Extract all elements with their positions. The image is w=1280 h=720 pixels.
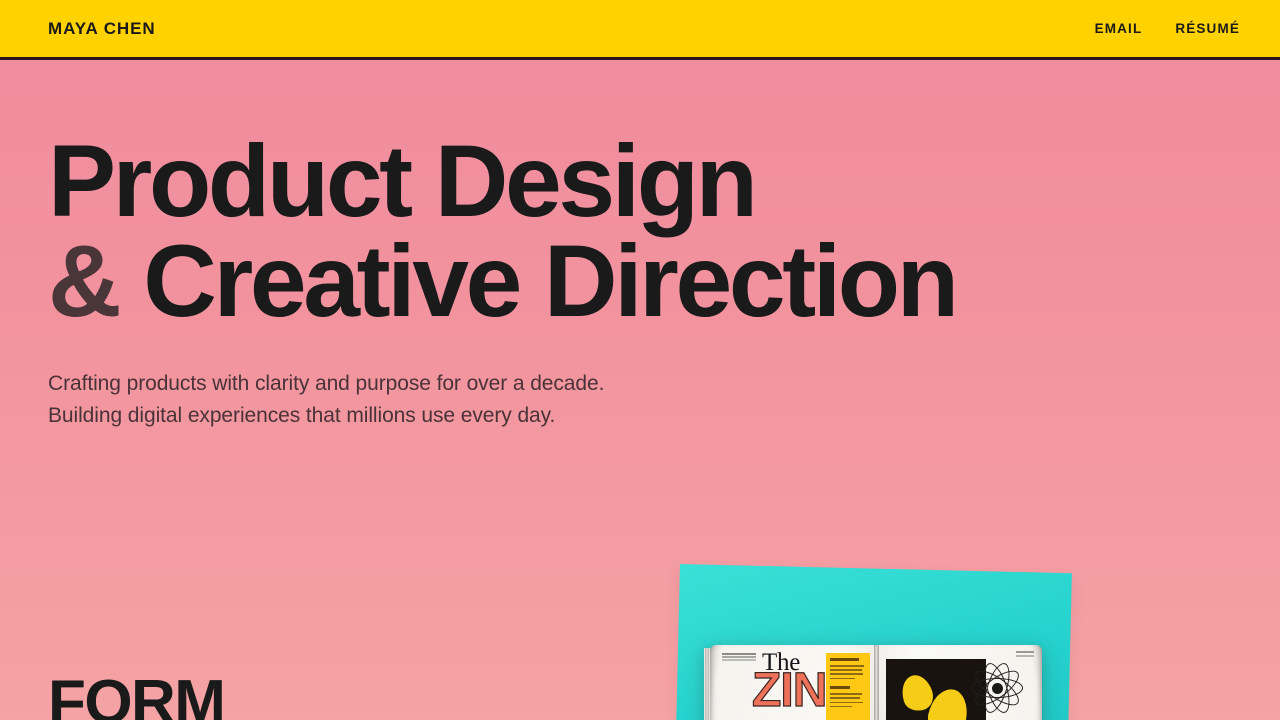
sidebar-text-line <box>830 702 863 704</box>
page-title: Product Design & Creative Direction <box>48 132 1232 332</box>
hero-section: Product Design & Creative Direction Craf… <box>0 60 1280 432</box>
nav-link-email[interactable]: EMAIL <box>1095 22 1143 36</box>
atom-nucleus <box>992 683 1003 694</box>
sidebar-text-line <box>830 665 864 667</box>
magazine-right-page <box>876 645 1042 720</box>
magazine-left-page: The ZIN <box>710 645 876 720</box>
masthead-rule <box>722 653 756 655</box>
magazine-photo: The ZIN <box>672 560 1076 720</box>
headline-ampersand: & <box>48 224 118 338</box>
open-magazine: The ZIN <box>710 645 1042 720</box>
sidebar-text-line <box>830 706 852 708</box>
book-spine-shadow <box>874 645 879 720</box>
sidebar-text-line <box>830 693 862 695</box>
nav-link-resume[interactable]: RÉSUMÉ <box>1175 22 1240 36</box>
sidebar-heading-bar <box>830 658 859 661</box>
headline-line-1: Product Design <box>48 132 1232 232</box>
sidebar-text-line <box>830 678 855 680</box>
page-root: MAYA CHEN EMAIL RÉSUMÉ Product Design & … <box>0 0 1280 720</box>
subhead-line-2: Building digital experiences that millio… <box>48 400 1232 432</box>
site-header: MAYA CHEN EMAIL RÉSUMÉ <box>0 0 1280 60</box>
site-wordmark[interactable]: MAYA CHEN <box>48 20 156 37</box>
sidebar-text-line <box>830 669 862 671</box>
sidebar-subheading-bar <box>830 686 850 689</box>
subhead-line-1: Crafting products with clarity and purpo… <box>48 368 1232 400</box>
page-number-rule <box>1016 651 1034 653</box>
section-label-form: FORM <box>48 672 224 720</box>
yellow-sidebar-column <box>826 653 870 720</box>
magazine-title-zin: ZIN <box>752 667 826 715</box>
atom-diagram-icon <box>970 661 1024 715</box>
hero-subhead: Crafting products with clarity and purpo… <box>48 368 1232 432</box>
headline-line-2-text: Creative Direction <box>143 224 955 338</box>
headline-line-2: & Creative Direction <box>48 232 1232 332</box>
sidebar-text-line <box>830 673 863 675</box>
main-navigation: EMAIL RÉSUMÉ <box>1095 22 1240 36</box>
sidebar-text-line <box>830 697 860 699</box>
